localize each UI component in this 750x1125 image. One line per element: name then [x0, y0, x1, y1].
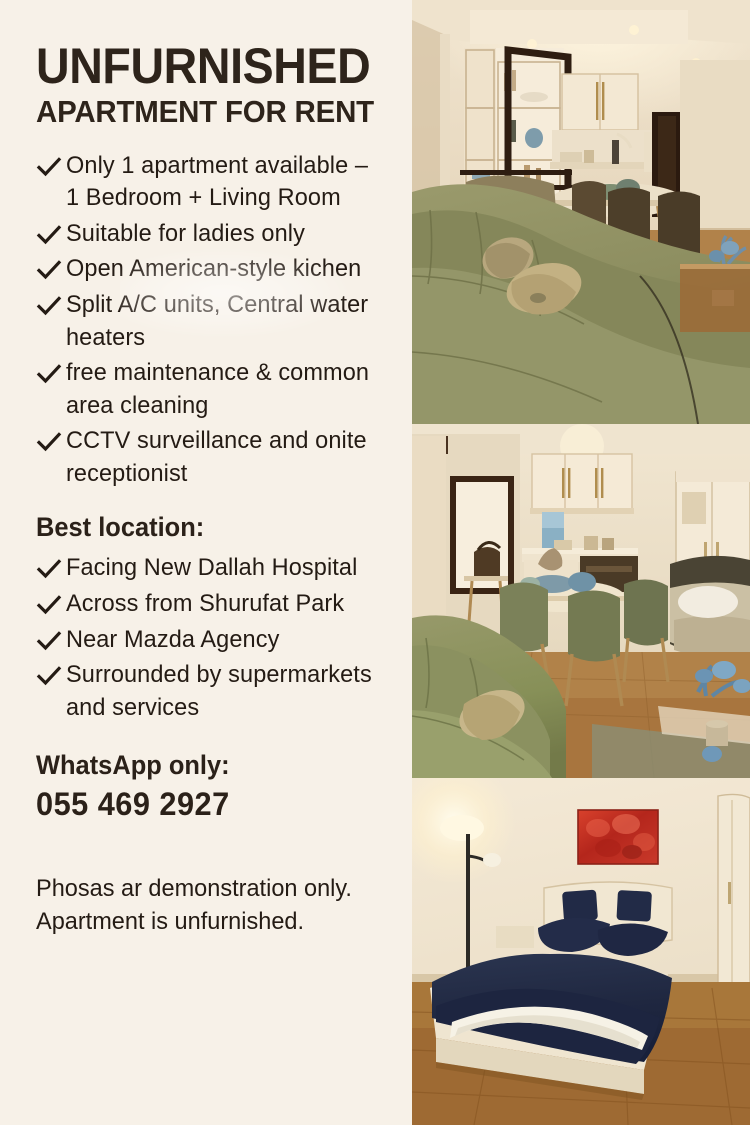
location-text: Surrounded by supermarkets and services: [66, 659, 387, 724]
list-item: free maintenance & common area cleaning: [36, 357, 400, 422]
rental-flyer: UNFURNISHED APARTMENT FOR RENT Only 1 ap…: [0, 0, 750, 1125]
feature-text: CCTV surveillance and onite receptionist: [66, 425, 387, 490]
location-heading: Best location:: [36, 512, 385, 543]
list-item: CCTV surveillance and onite receptionist: [36, 425, 400, 490]
check-icon: [36, 257, 62, 285]
features-list: Only 1 apartment available – 1 Bedroom +…: [36, 150, 400, 491]
check-icon: [36, 592, 62, 620]
phone-number[interactable]: 055 469 2927: [36, 786, 385, 823]
list-item: Only 1 apartment available – 1 Bedroom +…: [36, 150, 400, 215]
check-icon: [36, 361, 62, 389]
list-item: Across from Shurufat Park: [36, 588, 400, 621]
disclaimer-line-2: Apartment is unfurnished.: [36, 906, 385, 939]
location-text: Facing New Dallah Hospital: [66, 552, 357, 585]
whatsapp-label: WhatsApp only:: [36, 750, 385, 781]
list-item: Near Mazda Agency: [36, 624, 400, 657]
page-subtitle: APARTMENT FOR RENT: [36, 96, 382, 128]
list-item: Surrounded by supermarkets and services: [36, 659, 400, 724]
page-title: UNFURNISHED: [36, 42, 375, 90]
feature-text: Only 1 apartment available – 1 Bedroom +…: [66, 150, 387, 215]
check-icon: [36, 222, 62, 250]
list-item: Split A/C units, Central water heaters: [36, 289, 400, 354]
location-text: Near Mazda Agency: [66, 624, 279, 657]
photo-bedroom: [412, 778, 750, 1125]
check-icon: [36, 154, 62, 182]
check-icon: [36, 429, 62, 457]
check-icon: [36, 293, 62, 321]
check-icon: [36, 556, 62, 584]
text-panel: UNFURNISHED APARTMENT FOR RENT Only 1 ap…: [0, 0, 412, 1125]
location-text: Across from Shurufat Park: [66, 588, 344, 621]
check-icon: [36, 663, 62, 691]
photo-living-room: [412, 0, 750, 424]
list-item: Open American-style kichen: [36, 253, 400, 286]
location-list: Facing New Dallah Hospital Across from S…: [36, 552, 400, 724]
feature-text: Split A/C units, Central water heaters: [66, 289, 387, 354]
list-item: Facing New Dallah Hospital: [36, 552, 400, 585]
feature-text: free maintenance & common area cleaning: [66, 357, 387, 422]
check-icon: [36, 628, 62, 656]
disclaimer-line-1: Phosas ar demonstration only.: [36, 873, 385, 906]
feature-text: Suitable for ladies only: [66, 218, 305, 251]
photo-kitchen-dining: [412, 424, 750, 778]
feature-text: Open American-style kichen: [66, 253, 361, 286]
photo-column: [412, 0, 750, 1125]
disclaimer: Phosas ar demonstration only. Apartment …: [36, 873, 385, 939]
list-item: Suitable for ladies only: [36, 218, 400, 251]
